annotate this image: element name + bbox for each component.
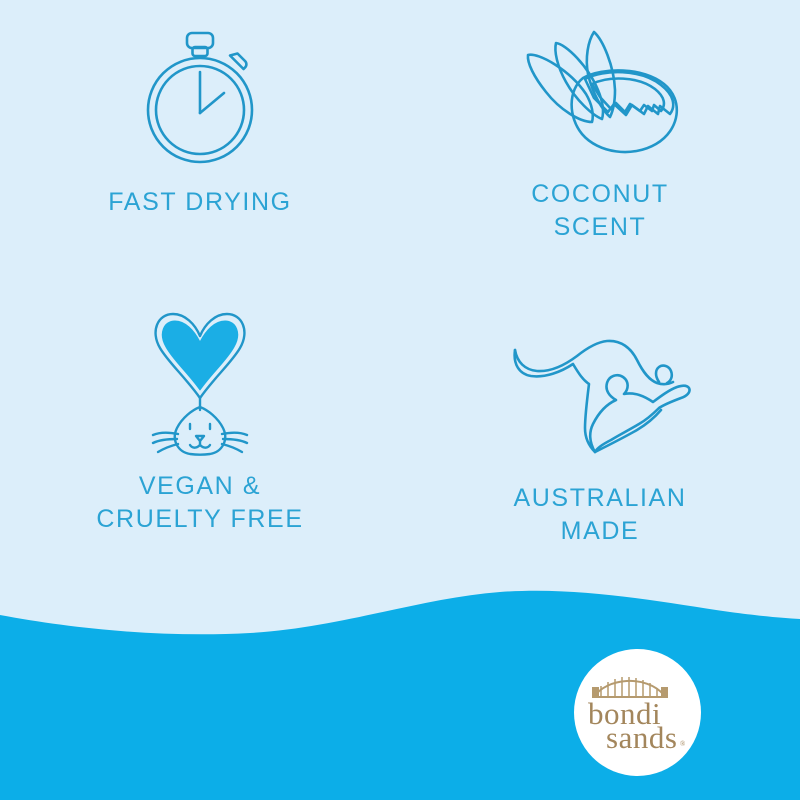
benefits-grid: FAST DRYING CO [0, 0, 800, 575]
benefit-label: FAST DRYING [108, 186, 291, 219]
benefit-australian-made: AUSTRALIAN MADE [400, 288, 800, 576]
benefit-coconut-scent: COCONUT SCENT [400, 0, 800, 288]
brand-logo-badge[interactable]: bondi sands ® [574, 649, 701, 776]
benefit-label: COCONUT SCENT [531, 178, 669, 244]
stopwatch-icon [135, 22, 265, 172]
benefit-fast-drying: FAST DRYING [0, 0, 400, 288]
heart-bunny-icon [140, 306, 260, 456]
brand-name-line2: sands [606, 720, 677, 755]
kangaroo-icon [503, 318, 698, 468]
benefit-label: AUSTRALIAN MADE [514, 482, 687, 548]
product-benefits-poster: FAST DRYING CO [0, 0, 800, 800]
benefit-vegan-cruelty-free: VEGAN & CRUELTY FREE [0, 288, 400, 576]
harbour-bridge-icon [592, 677, 668, 698]
coconut-icon [508, 14, 693, 164]
benefit-label: VEGAN & CRUELTY FREE [96, 470, 303, 536]
brand-trademark: ® [680, 740, 686, 748]
